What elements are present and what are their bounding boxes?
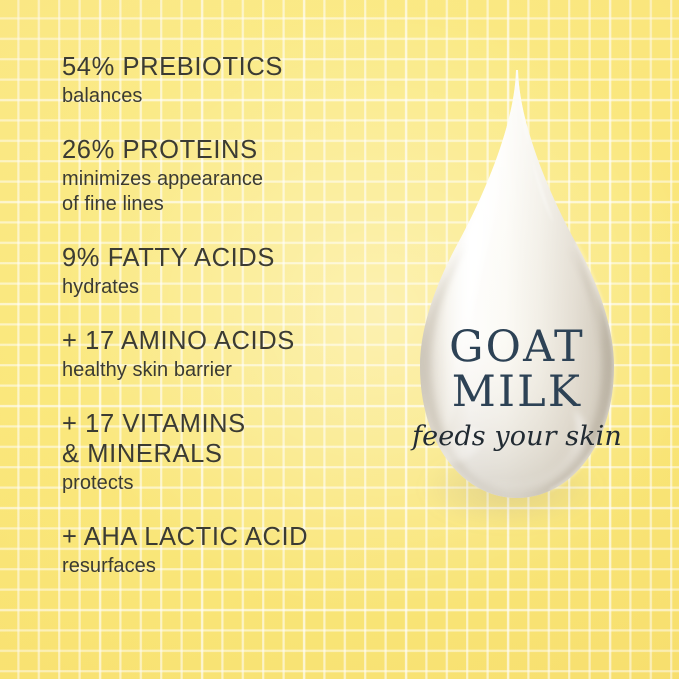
ingredient-description: protects (62, 471, 384, 496)
ingredient-heading: 9% FATTY ACIDS (62, 243, 384, 273)
ingredient-description: minimizes appearance of fine lines (62, 167, 384, 217)
droplet-title-line-2: MILK (378, 370, 656, 415)
ingredient-heading: 54% PREBIOTICS (62, 52, 384, 82)
ingredient-description: hydrates (62, 275, 384, 300)
ingredient-list: 54% PREBIOTICS balances 26% PROTEINS min… (62, 52, 384, 579)
ingredient-item-aha-lactic-acid: + AHA LACTIC ACID resurfaces (62, 522, 384, 579)
ingredient-heading: 26% PROTEINS (62, 135, 384, 165)
ingredient-description: resurfaces (62, 554, 384, 579)
droplet-text-block: GOAT MILK feeds your skin (378, 58, 656, 453)
ingredient-item-prebiotics: 54% PREBIOTICS balances (62, 52, 384, 109)
ingredient-item-vitamins-minerals: + 17 VITAMINS & MINERALS protects (62, 409, 384, 496)
ingredient-heading: + AHA LACTIC ACID (62, 522, 384, 552)
ingredient-heading: + 17 AMINO ACIDS (62, 326, 384, 356)
milk-droplet: GOAT MILK feeds your skin (378, 58, 656, 548)
ingredient-item-amino-acids: + 17 AMINO ACIDS healthy skin barrier (62, 326, 384, 383)
droplet-tagline: feeds your skin (378, 421, 656, 453)
droplet-title-line-1: GOAT (378, 325, 656, 370)
ingredient-infographic: 54% PREBIOTICS balances 26% PROTEINS min… (0, 0, 679, 679)
ingredient-heading: + 17 VITAMINS & MINERALS (62, 409, 384, 469)
ingredient-description: healthy skin barrier (62, 358, 384, 383)
ingredient-item-proteins: 26% PROTEINS minimizes appearance of fin… (62, 135, 384, 217)
ingredient-item-fatty-acids: 9% FATTY ACIDS hydrates (62, 243, 384, 300)
ingredient-description: balances (62, 84, 384, 109)
